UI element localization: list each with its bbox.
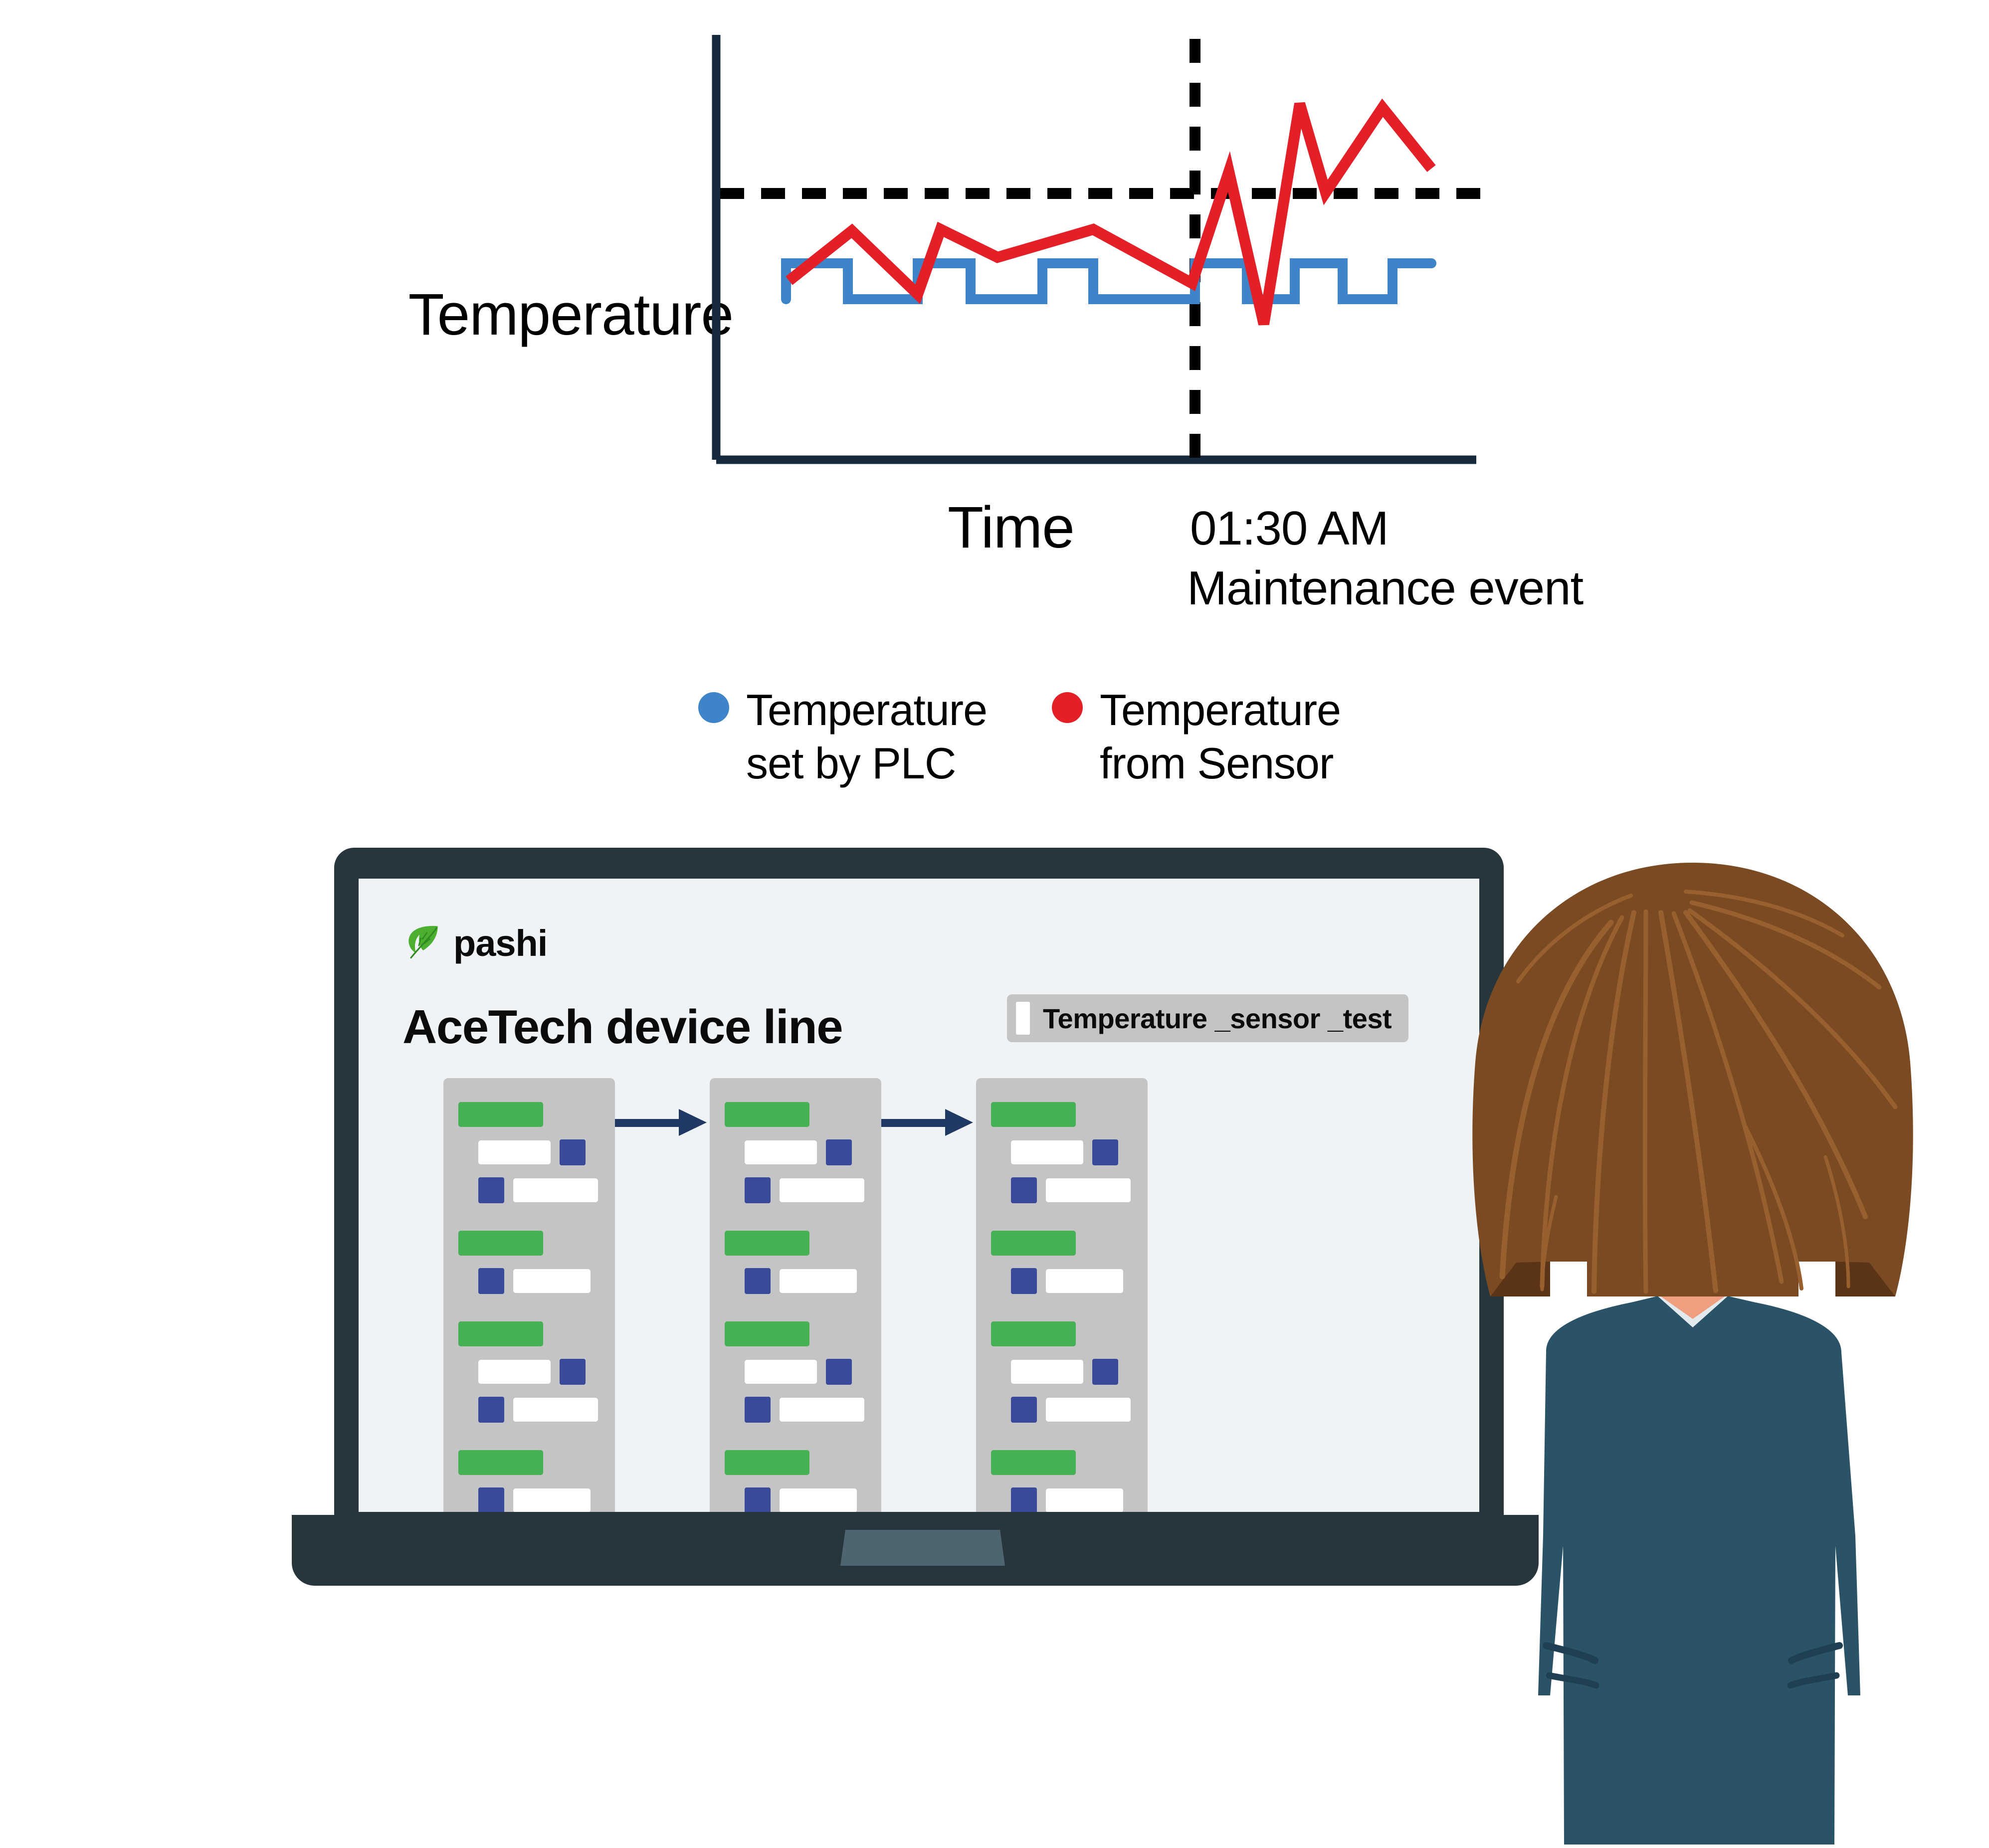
legend-label-plc: Temperature set by PLC — [746, 683, 987, 790]
legend-item-sensor: Temperature from Sensor — [1052, 683, 1341, 790]
event-time: 01:30 AM — [1190, 499, 1761, 558]
flow-arrow-2 — [881, 1109, 976, 1136]
legend-item-plc: Temperature set by PLC — [698, 683, 987, 790]
plc-temperature-line — [786, 263, 1431, 299]
arrow-right-icon — [945, 1109, 973, 1136]
person-illustration — [1396, 848, 1989, 1846]
status-badge[interactable]: Temperature _sensor _test — [1007, 994, 1408, 1042]
legend-dot-sensor-icon — [1052, 692, 1083, 723]
event-label: Maintenance event — [1187, 558, 1761, 618]
chart-plot-area — [698, 30, 1496, 479]
chart-legend: Temperature set by PLC Temperature from … — [698, 683, 1596, 790]
flow-card-3[interactable] — [976, 1078, 1148, 1512]
brand-name: pashi — [453, 925, 547, 962]
flow-arrow-1 — [615, 1109, 710, 1136]
sensor-temperature-line — [789, 104, 1431, 324]
temperature-chart: Temperature Time 01:30 AM Maintenance ev… — [0, 0, 1989, 648]
chart-x-axis-title: Time — [948, 494, 1074, 561]
laptop-trackpad — [840, 1530, 1005, 1566]
hair — [1472, 863, 1913, 1296]
device-flow-diagram — [443, 1078, 1148, 1512]
brand-logo: pashi — [402, 923, 547, 964]
event-annotation: 01:30 AM Maintenance event — [1187, 499, 1761, 618]
page-title: AceTech device line — [402, 1003, 842, 1051]
flow-card-1[interactable] — [443, 1078, 615, 1512]
legend-label-sensor: Temperature from Sensor — [1100, 683, 1341, 790]
legend-dot-plc-icon — [698, 692, 729, 723]
laptop-illustration: pashi AceTech device line Temperature _s… — [292, 848, 1539, 1586]
arrow-right-icon — [679, 1109, 707, 1136]
flow-card-2[interactable] — [710, 1078, 881, 1512]
leaf-icon — [402, 923, 441, 964]
badge-accent-bar-icon — [1016, 1002, 1030, 1035]
badge-label: Temperature _sensor _test — [1043, 1002, 1392, 1035]
shirt — [1538, 1296, 1860, 1845]
chart-y-axis-title: Temperature — [294, 284, 733, 346]
app-screen: pashi AceTech device line Temperature _s… — [359, 879, 1479, 1512]
